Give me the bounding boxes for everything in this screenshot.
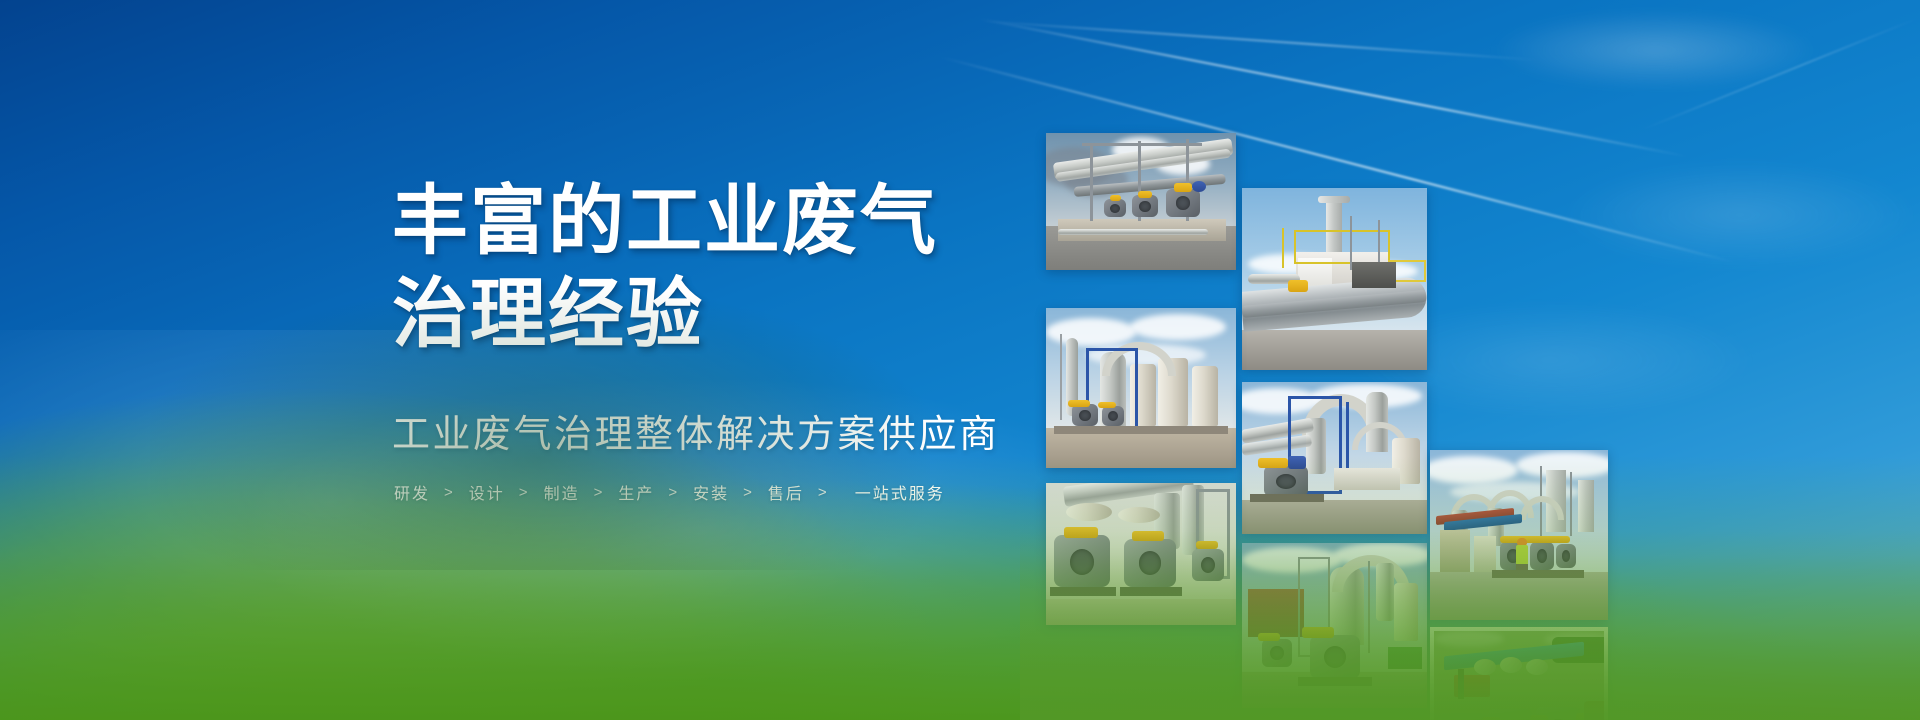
breadcrumb-item-0: 研发 bbox=[392, 480, 432, 504]
gallery-photo-workshop-line-with-worker[interactable] bbox=[1430, 450, 1608, 620]
gallery-photo-rto-unit-with-stack[interactable] bbox=[1242, 188, 1427, 370]
page-title-line-1: 丰富的工业废气 bbox=[392, 176, 1012, 269]
breadcrumb-separator-icon: > bbox=[582, 484, 617, 501]
gallery-photo-blue-frame-duct-system[interactable] bbox=[1242, 382, 1427, 534]
breadcrumb-separator-icon: > bbox=[806, 484, 841, 501]
breadcrumb-item-1: 设计 bbox=[467, 480, 507, 504]
breadcrumb: 研发 > 设计 > 制造 > 生产 > 安装 > 售后 > 一站式服务 bbox=[392, 480, 1012, 504]
breadcrumb-item-5: 售后 bbox=[766, 480, 806, 504]
hero-copy: 丰富的工业废气 治理经验 工业废气治理整体解决方案供应商 研发 > 设计 > 制… bbox=[392, 176, 1012, 504]
breadcrumb-separator-icon: > bbox=[507, 484, 542, 501]
breadcrumb-item-3: 生产 bbox=[616, 480, 656, 504]
page-title-line-2: 治理经验 bbox=[392, 269, 1012, 362]
gallery-photo-pipeline-rack-with-blowers[interactable] bbox=[1046, 133, 1236, 270]
breadcrumb-item-4: 安装 bbox=[691, 480, 731, 504]
gallery-photo-fan-units-outdoor-storage[interactable] bbox=[1430, 627, 1608, 720]
breadcrumb-separator-icon: > bbox=[656, 484, 691, 501]
hero-banner: 丰富的工业废气 治理经验 工业废气治理整体解决方案供应商 研发 > 设计 > 制… bbox=[0, 0, 1920, 720]
photo-collage bbox=[1020, 100, 1660, 660]
breadcrumb-separator-icon: > bbox=[731, 484, 766, 501]
cloud-wisp-icon bbox=[1490, 10, 1820, 90]
gallery-photo-centrifugal-fan-row[interactable] bbox=[1046, 483, 1236, 625]
breadcrumb-separator-icon: > bbox=[432, 484, 467, 501]
contrail-icon bbox=[1640, 18, 1919, 132]
hero-subtitle: 工业废气治理整体解决方案供应商 bbox=[392, 403, 1012, 458]
gallery-photo-scrubber-tower-array[interactable] bbox=[1046, 308, 1236, 468]
gallery-photo-tower-and-fan-plant[interactable] bbox=[1242, 543, 1427, 708]
breadcrumb-item-6: 一站式服务 bbox=[841, 480, 947, 504]
worker-figure-icon bbox=[1516, 538, 1528, 572]
breadcrumb-item-2: 制造 bbox=[542, 480, 582, 504]
contrail-icon bbox=[980, 20, 1539, 61]
